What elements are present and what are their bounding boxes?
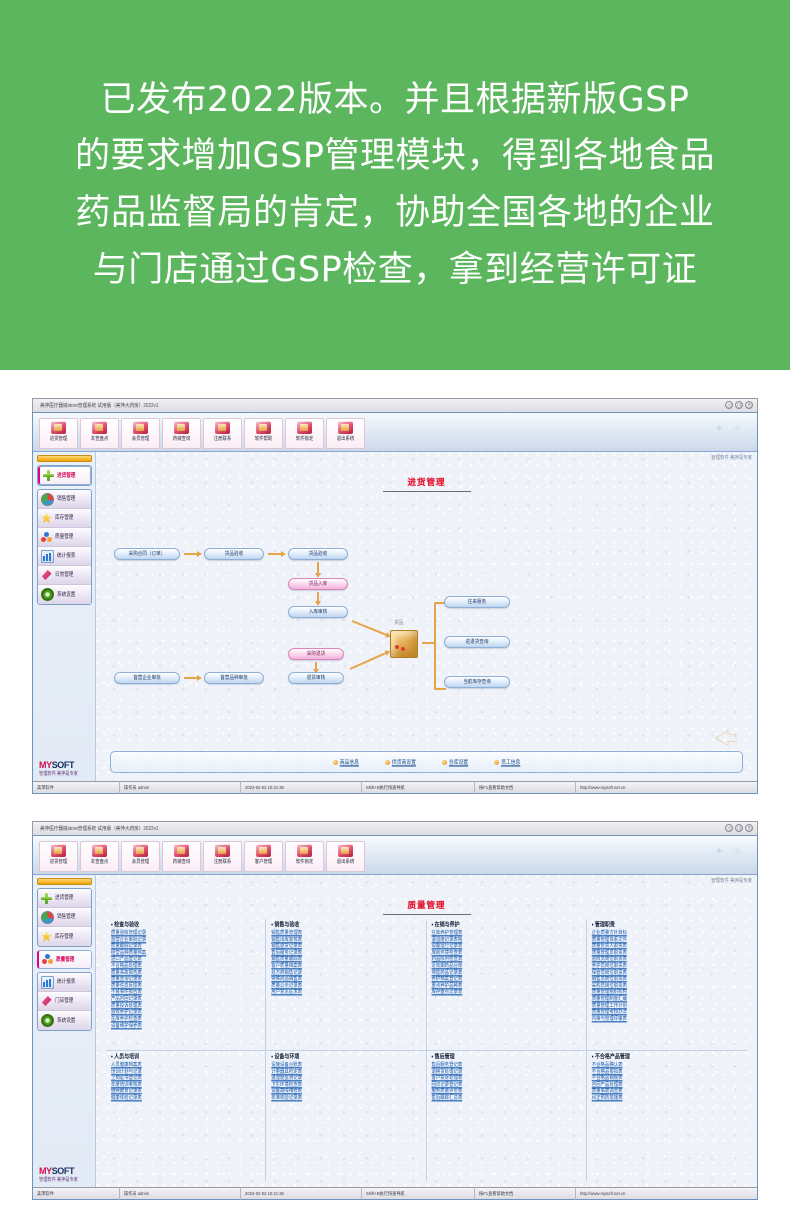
window-titlebar-2: 美萍医疗器械store管理系统 试用版（美萍大药房）2022v1 − □ ×	[32, 821, 758, 835]
search-icon	[174, 844, 189, 857]
sidebar-item-label: 质量管理	[56, 956, 74, 963]
quality-column-header: 售后管理	[432, 1052, 582, 1060]
sidebar-item-daily[interactable]: 日常管理	[38, 566, 91, 585]
quality-link[interactable]: 纠正预防措施表	[592, 1095, 743, 1103]
footer-link-warehouse[interactable]: 仓库设置	[442, 759, 468, 766]
minimize-icon[interactable]: −	[725, 401, 733, 409]
window-title-2: 美萍医疗器械store管理系统 试用版（美萍大药房）2022v1	[33, 825, 158, 832]
bracket-right	[434, 602, 446, 690]
toolbar-button-register[interactable]: 注册联系	[203, 841, 242, 872]
node-purchase-return[interactable]: 采购退货	[288, 648, 344, 660]
title-rule	[383, 491, 471, 492]
page-title-1: 进货管理	[383, 476, 471, 492]
sidebar-item-settings[interactable]: 系统设置	[38, 585, 91, 604]
node-label: 货品验收	[225, 551, 243, 558]
molecule-icon	[42, 954, 53, 965]
logo-subtitle: 管理软件 美萍是专家	[39, 770, 92, 777]
node-label: 进退货查询	[466, 639, 489, 646]
footer-links-1: 商品信息 供货商设置 仓库设置 员工信息	[110, 751, 743, 773]
toolbar-button-search[interactable]: 药械查询	[162, 418, 201, 449]
sidebar-item-label: 日常管理	[55, 571, 73, 578]
molecule-icon	[41, 532, 52, 543]
decorative-sparkle-icon: ✦ ✧	[715, 422, 746, 435]
node-label: 首营企业审批	[133, 675, 161, 682]
status-brand: 美萍软件	[33, 781, 120, 793]
quality-column-header: 设备与环境	[271, 1052, 421, 1060]
node-purchase-contract[interactable]: 采购合同（订单）	[114, 548, 180, 560]
sidebar-item-purchase[interactable]: 进货管理	[38, 889, 91, 908]
toolbar-label: 软件锁定	[296, 858, 314, 865]
banner-line-1: 已发布2022版本。并且根据新版GSP	[100, 72, 689, 129]
quality-link-list: 人员健康档案表培训计划与记录上岗证书登记表年度培训考核表继续教育记录表健康体检记…	[111, 1062, 261, 1102]
arrow-3	[317, 562, 319, 574]
member-icon	[133, 844, 148, 857]
sidebar-item-label: 进货管理	[57, 472, 75, 479]
toolbar-label: 退出系统	[337, 435, 355, 442]
exit-icon	[338, 421, 353, 434]
sidebar-item-quality[interactable]: 质量管理	[38, 528, 91, 547]
pie-icon	[41, 493, 54, 506]
quality-link[interactable]: 健康体检记录表	[111, 1095, 261, 1103]
quality-column-header: 人员与培训	[111, 1052, 261, 1060]
toolbar-button-exit[interactable]: 退出系统	[326, 841, 365, 872]
banner-line-3: 药品监督局的肯定，协助全国各地的企业	[75, 185, 714, 242]
node-goods-instock[interactable]: 货品入库	[288, 578, 348, 590]
quality-link-list: 在库养护管理表温湿度记录表格设备运行记录表库房环境检查表药品陈列检查表近效期药品…	[432, 930, 582, 996]
sidebar-item-label: 销售管理	[57, 913, 75, 920]
user-info-2: 管理软件 美萍是专家	[711, 878, 752, 885]
sidebar-item-label: 质量管理	[55, 533, 73, 540]
node-label: 往来服务	[468, 599, 486, 606]
exit-icon	[338, 844, 353, 857]
brand-logo-2: MYSOFT 管理软件 美萍是专家	[37, 1166, 92, 1187]
quality-column: 检查与验收质量验收管理记录首营企业审批记录质量跟踪记录表经营品种质量档案进口产品…	[106, 919, 266, 1050]
close-icon[interactable]: ×	[745, 401, 753, 409]
arrow-to-cube-top	[352, 620, 388, 636]
back-arrow-icon[interactable]	[713, 729, 739, 747]
status-url[interactable]: http://www.mysoft.net.cn	[576, 1187, 629, 1199]
node-return-audit[interactable]: 退货审核	[288, 672, 344, 684]
sidebar-item-sales[interactable]: 销售管理	[38, 908, 91, 927]
sidebar-group-active: 进货管理	[37, 465, 92, 486]
quality-column: 售后管理售后服务登记表退换货处理记录客户投诉处理表回访记录登记表服务质量评价表售…	[427, 1050, 587, 1181]
arrow-1	[184, 553, 198, 555]
logo-subtitle: 管理软件 美萍是专家	[39, 1176, 92, 1183]
page-title-2: 质量管理	[383, 899, 471, 915]
plus-icon	[41, 893, 52, 904]
toolbar-button-lock[interactable]: 软件锁定	[285, 418, 324, 449]
main-row-2: 进货管理 销售管理 库存管理 质量管理	[33, 875, 757, 1187]
arrow-2	[268, 553, 282, 555]
node-stock-query[interactable]: 当前库存查询	[444, 676, 510, 688]
logo-text: MYSOFT	[39, 1166, 92, 1176]
quality-link-list: 设施设备台账表计量器具检定表温湿度监测记录卫生环境检查表设备故障维修表校准校验记…	[271, 1062, 421, 1102]
toolbar-button-inventory[interactable]: 本查盘点	[80, 418, 119, 449]
status-help: 按F1查看帮助文档	[475, 781, 576, 793]
sidebar-group-main: 销售管理 库存管理 质量管理 统计报表	[37, 489, 92, 605]
node-return-query[interactable]: 进退货查询	[444, 636, 510, 648]
app-screenshot-quality: 美萍医疗器械store管理系统 试用版（美萍大药房）2022v1 − □ × 进…	[32, 821, 758, 1199]
toolbar-label: 注册联系	[214, 435, 232, 442]
footer-link-employee[interactable]: 员工信息	[494, 759, 520, 766]
sidebar-item-label: 门店管理	[55, 997, 73, 1004]
sidebar-group-top: 进货管理 销售管理 库存管理	[37, 888, 92, 947]
decorative-sparkle-icon: ✦ ✧	[715, 845, 746, 858]
sidebar-item-stock[interactable]: 库存管理	[38, 927, 91, 946]
sidebar-item-label: 统计报表	[57, 552, 75, 559]
canvas-quality-index: 管理软件 美萍是专家 质量管理 检查与验收质量验收管理记录首营企业审批记录质量跟…	[95, 875, 757, 1187]
status-operator: 操作员 admin	[120, 1187, 241, 1199]
sidebar-2: 进货管理 销售管理 库存管理 质量管理	[33, 875, 95, 1187]
main-row-1: 进货管理 销售管理 库存管理 质量管理	[33, 452, 757, 781]
quality-link[interactable]: 售后跟踪汇总表	[432, 1095, 582, 1103]
toolbar-button-purchase[interactable]: 进货管理	[39, 841, 78, 872]
sidebar-item-stock[interactable]: 库存管理	[38, 509, 91, 528]
node-label: 当前库存查询	[463, 679, 491, 686]
footer-link-goods[interactable]: 商品信息	[333, 759, 359, 766]
toolbar-label: 会员管理	[132, 858, 150, 865]
node-label: 入库审核	[309, 609, 327, 616]
toolbar-label: 药械查询	[173, 435, 191, 442]
toolbar-label: 进货管理	[50, 435, 68, 442]
sidebar-item-reports[interactable]: 统计报表	[38, 547, 91, 566]
arrow-to-cube-bottom	[350, 652, 387, 670]
node-first-company-approval[interactable]: 首营企业审批	[114, 672, 180, 684]
minimize-icon[interactable]: −	[725, 824, 733, 832]
user-info-1: 管理软件 美萍是专家	[711, 455, 752, 462]
quality-link-list: 质量验收管理记录首营企业审批记录质量跟踪记录表经营品种质量档案进口产品登记表不合…	[111, 930, 261, 1029]
quality-column: 管理职责企业质量方针目标质量管理体系文件质量负责人职责表质量管理员职责表验收员岗…	[587, 919, 747, 1050]
quality-column-header: 销售与验收	[271, 920, 421, 928]
toolbar-button-register[interactable]: 注册联系	[203, 418, 242, 449]
node-goods-accept-1[interactable]: 货品验收	[204, 548, 264, 560]
gear-icon	[41, 1014, 54, 1027]
bars-icon	[41, 550, 54, 563]
inventory-icon	[92, 421, 107, 434]
node-first-variety-approval[interactable]: 首营品种审批	[204, 672, 264, 684]
bullet-icon	[385, 760, 390, 765]
inventory-icon	[92, 844, 107, 857]
sidebar-1: 进货管理 销售管理 库存管理 质量管理	[33, 452, 95, 781]
bullet-icon	[442, 760, 447, 765]
quality-column: 在销与养护在库养护管理表温湿度记录表格设备运行记录表库房环境检查表药品陈列检查表…	[427, 919, 587, 1050]
toolbar-1: 进货管理 本查盘点 会员管理 药械查询 注册联系 软件帮助	[33, 413, 757, 452]
node-label: 首营品种审批	[220, 675, 248, 682]
quality-link[interactable]: 设备维护保养表	[111, 1022, 261, 1030]
sidebar-item-label: 销售管理	[57, 495, 75, 502]
quality-column-header: 检查与验收	[111, 920, 261, 928]
sidebar-item-stores[interactable]: 门店管理	[38, 992, 91, 1011]
bullet-icon	[494, 760, 499, 765]
statusbar-1: 美萍软件 操作员 admin 2022-02-02 10:41:36 Shift…	[33, 781, 757, 793]
sidebar-item-label: 库存管理	[55, 933, 73, 940]
quality-link-list: 不合格品确认表不合格品报损表不合格品销毁表召回产品处理表质量事故调查表纠正预防措…	[592, 1062, 743, 1102]
toolbar-button-exit[interactable]: 退出系统	[326, 418, 365, 449]
register-icon	[215, 421, 230, 434]
sidebar-item-label: 库存管理	[55, 514, 73, 521]
member-icon	[133, 421, 148, 434]
logo-soft: SOFT	[52, 760, 74, 770]
footer-link-label: 仓库设置	[449, 758, 468, 766]
toolbar-label: 本查盘点	[91, 858, 109, 865]
lock-icon	[297, 844, 312, 857]
plus-icon	[43, 470, 54, 481]
brush-icon	[41, 570, 52, 581]
banner-line-2: 的要求增加GSP管理模块，得到各地食品	[75, 128, 715, 185]
status-shortcut: Shift+B执行快速导航	[362, 1187, 475, 1199]
quality-column-header: 在销与养护	[432, 920, 582, 928]
customer-icon	[256, 844, 271, 857]
window-body-2: 进货管理 本查盘点 会员管理 药械查询 注册联系 客户管理	[32, 835, 758, 1200]
sidebar-item-label: 统计报表	[57, 978, 75, 985]
footer-link-label: 员工信息	[501, 758, 520, 766]
statusbar-2: 美萍软件 操作员 admin 2022-02-02 10:41:36 Shift…	[33, 1187, 757, 1199]
node-label: 退货审核	[307, 675, 325, 682]
sidebar-accent-bar	[37, 878, 92, 885]
toolbar-label: 进货管理	[50, 858, 68, 865]
help-icon	[256, 421, 271, 434]
footer-link-label: 商品信息	[340, 758, 359, 766]
star-icon	[41, 513, 52, 524]
quality-link-list: 销售质量管理表销售出库复核表销售退货记录表售后服务记录表销售质量跟踪表客户质量档…	[271, 930, 421, 996]
quality-column: 设备与环境设施设备台账表计量器具检定表温湿度监测记录卫生环境检查表设备故障维修表…	[266, 1050, 426, 1181]
window-controls-2[interactable]: − □ ×	[725, 824, 753, 832]
canvas-purchase-flow: 管理软件 美萍是专家 进货管理 采购合同（订单） 货品验收 货品验收 货品入库 …	[95, 452, 757, 781]
quality-column: 人员与培训人员健康档案表培训计划与记录上岗证书登记表年度培训考核表继续教育记录表…	[106, 1050, 266, 1181]
toolbar-2: 进货管理 本查盘点 会员管理 药械查询 注册联系 客户管理	[33, 836, 757, 875]
bars-icon	[41, 976, 54, 989]
quality-link[interactable]: 内审与管理评审表	[592, 1015, 743, 1023]
lock-icon	[297, 421, 312, 434]
cube-label: 货品	[394, 620, 403, 627]
sidebar-item-reports[interactable]: 统计报表	[38, 973, 91, 992]
node-goods-accept-2[interactable]: 货品验收	[288, 548, 348, 560]
status-datetime: 2022-02-02 10:41:36	[241, 781, 362, 793]
node-instock-audit[interactable]: 入库审核	[288, 606, 348, 618]
toolbar-label: 软件锁定	[296, 435, 314, 442]
toolbar-label: 客户管理	[255, 858, 273, 865]
quality-link[interactable]: 校准校验记录表	[271, 1095, 421, 1103]
quality-link[interactable]: 用户意见征求表	[271, 989, 421, 997]
toolbar-label: 软件帮助	[255, 435, 273, 442]
page-title-text: 进货管理	[383, 476, 471, 488]
sidebar-group-active: 质量管理	[37, 950, 92, 969]
toolbar-button-lock[interactable]: 软件锁定	[285, 841, 324, 872]
page-title-text: 质量管理	[383, 899, 471, 911]
star-icon	[41, 931, 52, 942]
brush-icon	[41, 996, 52, 1007]
status-brand: 美萍软件	[33, 1187, 120, 1199]
logo-my: MY	[39, 1166, 52, 1176]
toolbar-button-member[interactable]: 会员管理	[121, 841, 160, 872]
brand-logo-1: MYSOFT 管理软件 美萍是专家	[37, 760, 92, 781]
quality-link[interactable]: 库存盘点记录表	[432, 989, 582, 997]
quality-column-header: 管理职责	[592, 920, 743, 928]
quality-link-list: 企业质量方针目标质量管理体系文件质量负责人职责表质量管理员职责表验收员岗位职责表…	[592, 930, 743, 1023]
status-help: 按F1查看帮助文档	[475, 1187, 576, 1199]
status-shortcut: Shift+B执行快速导航	[362, 781, 475, 793]
window-title-1: 美萍医疗器械store管理系统 试用版（美萍大药房）2022v1	[33, 402, 158, 409]
logo-text: MYSOFT	[39, 760, 92, 770]
toolbar-label: 退出系统	[337, 858, 355, 865]
window-controls-1[interactable]: − □ ×	[725, 401, 753, 409]
quality-link-grid: 检查与验收质量验收管理记录首营企业审批记录质量跟踪记录表经营品种质量档案进口产品…	[106, 919, 747, 1181]
quality-column: 销售与验收销售质量管理表销售出库复核表销售退货记录表售后服务记录表销售质量跟踪表…	[266, 919, 426, 1050]
purchase-icon	[51, 421, 66, 434]
node-label: 采购退货	[307, 651, 325, 658]
node-label: 货品入库	[309, 581, 327, 588]
sidebar-item-purchase[interactable]: 进货管理	[38, 466, 91, 485]
register-icon	[215, 844, 230, 857]
toolbar-label: 药械查询	[173, 858, 191, 865]
quality-column-header: 不合格产品管理	[592, 1052, 743, 1060]
footer-link-supplier[interactable]: 供货商设置	[385, 759, 416, 766]
toolbar-label: 注册联系	[214, 858, 232, 865]
promo-banner: 已发布2022版本。并且根据新版GSP 的要求增加GSP管理模块，得到各地食品 …	[0, 0, 790, 370]
toolbar-button-customer[interactable]: 客户管理	[244, 841, 283, 872]
toolbar-button-purchase[interactable]: 进货管理	[39, 418, 78, 449]
app-screenshot-purchase: 美萍医疗器械store管理系统 试用版（美萍大药房）2022v1 − □ × 进…	[32, 398, 758, 793]
close-icon[interactable]: ×	[745, 824, 753, 832]
title-rule	[383, 914, 471, 915]
sidebar-item-settings[interactable]: 系统设置	[38, 1011, 91, 1030]
maximize-icon[interactable]: □	[735, 401, 743, 409]
search-icon	[174, 421, 189, 434]
logo-my: MY	[39, 760, 52, 770]
toolbar-button-help[interactable]: 软件帮助	[244, 418, 283, 449]
toolbar-button-search[interactable]: 药械查询	[162, 841, 201, 872]
node-label: 货品验收	[309, 551, 327, 558]
arrow-5	[184, 677, 198, 679]
toolbar-label: 本查盘点	[91, 435, 109, 442]
sidebar-item-label: 系统设置	[57, 591, 75, 598]
banner-line-4: 与门店通过GSP检查，拿到经营许可证	[93, 242, 697, 299]
toolbar-button-inventory[interactable]: 本查盘点	[80, 841, 119, 872]
sidebar-item-label: 系统设置	[57, 1017, 75, 1024]
status-url[interactable]: http://www.mysoft.net.cn	[576, 781, 629, 793]
sidebar-item-sales[interactable]: 销售管理	[38, 490, 91, 509]
bracket-stem	[422, 642, 436, 644]
pie-icon	[41, 911, 54, 924]
gear-icon	[41, 588, 54, 601]
node-label: 采购合同（订单）	[129, 551, 166, 558]
footer-link-label: 供货商设置	[392, 758, 416, 766]
bullet-icon	[333, 760, 338, 765]
arrow-4	[317, 592, 319, 602]
quality-column: 不合格产品管理不合格品确认表不合格品报损表不合格品销毁表召回产品处理表质量事故调…	[587, 1050, 747, 1181]
sidebar-accent-bar	[37, 455, 92, 462]
quality-link-list: 售后服务登记表退换货处理记录客户投诉处理表回访记录登记表服务质量评价表售后跟踪汇…	[432, 1062, 582, 1102]
goods-cube-icon	[390, 630, 418, 658]
sidebar-group-bottom: 统计报表 门店管理 系统设置	[37, 972, 92, 1031]
sidebar-item-label: 进货管理	[55, 894, 73, 901]
logo-soft: SOFT	[52, 1166, 74, 1176]
arrow-6	[315, 662, 317, 670]
window-body-1: 进货管理 本查盘点 会员管理 药械查询 注册联系 软件帮助	[32, 412, 758, 794]
status-datetime: 2022-02-02 10:41:36	[241, 1187, 362, 1199]
toolbar-label: 会员管理	[132, 435, 150, 442]
window-titlebar-1: 美萍医疗器械store管理系统 试用版（美萍大药房）2022v1 − □ ×	[32, 398, 758, 412]
toolbar-button-member[interactable]: 会员管理	[121, 418, 160, 449]
node-transactions[interactable]: 往来服务	[444, 596, 510, 608]
maximize-icon[interactable]: □	[735, 824, 743, 832]
purchase-icon	[51, 844, 66, 857]
sidebar-item-quality[interactable]: 质量管理	[37, 950, 92, 969]
status-operator: 操作员 admin	[120, 781, 241, 793]
